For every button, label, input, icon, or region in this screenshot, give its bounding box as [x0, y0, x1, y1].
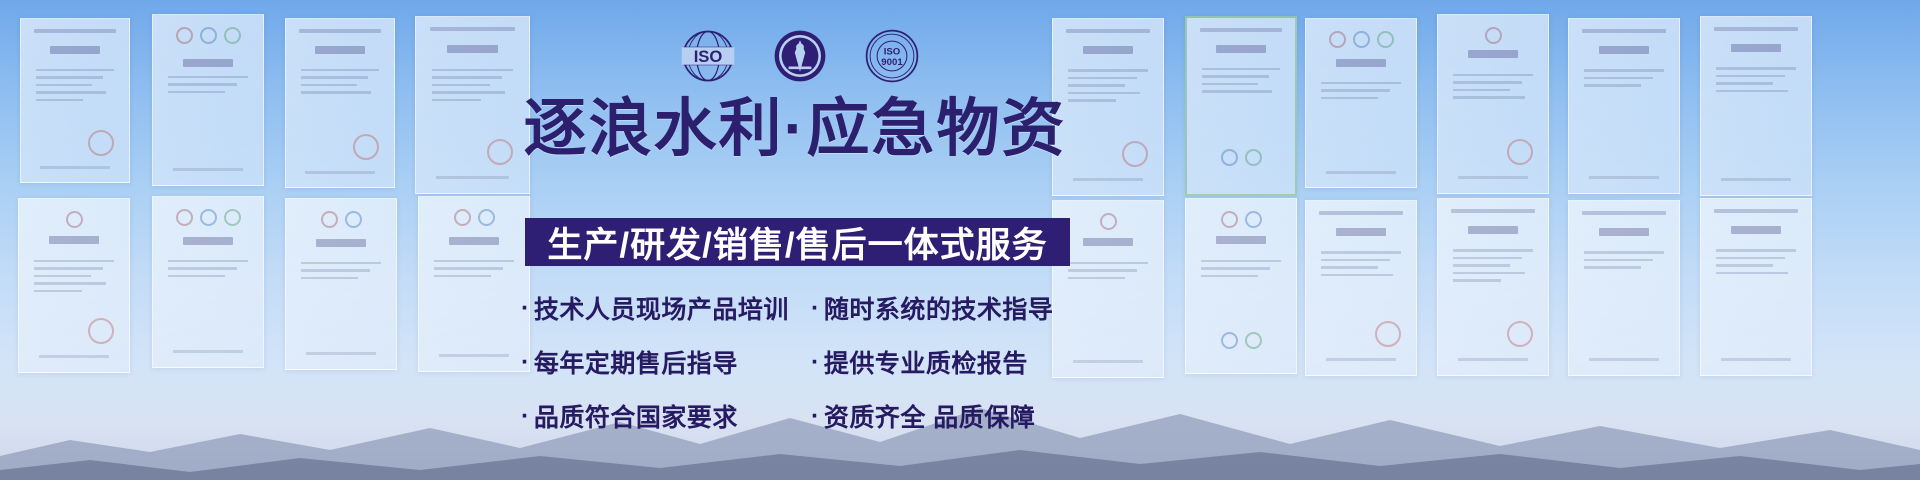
certificate-thumbnail: [1568, 18, 1680, 194]
bullet-icon: ·: [811, 350, 820, 375]
feature-item: · 资质齐全 品质保障: [811, 398, 1081, 434]
bullet-icon: ·: [521, 296, 530, 321]
certificate-thumbnail: [285, 198, 397, 370]
feature-row: · 每年定期售后指导 · 提供专业质检报告: [521, 344, 1081, 380]
feature-item: · 随时系统的技术指导: [811, 290, 1081, 326]
certificate-thumbnail: [1185, 198, 1297, 374]
certificate-thumbnail: [1305, 18, 1417, 188]
certificate-thumbnail: [285, 18, 395, 188]
banner-content: ISO ISO 9001 逐浪水利·应急物资 生产/研发/销售/售: [505, 0, 1085, 480]
banner-subtitle-bar: 生产/研发/销售/售后一体式服务: [525, 218, 1070, 266]
banner-headline: 逐浪水利·应急物资: [505, 98, 1085, 161]
iso-badge-label: ISO: [694, 47, 723, 66]
certificate-thumbnail: [20, 18, 130, 183]
svg-text:9001: 9001: [881, 57, 903, 68]
feature-label: 资质齐全 品质保障: [824, 398, 1035, 434]
feature-item: · 品质符合国家要求: [521, 398, 811, 434]
certificate-thumbnail: [18, 198, 130, 373]
feature-label: 技术人员现场产品培训: [534, 290, 789, 326]
certification-seal-badge: [772, 28, 828, 84]
certificate-thumbnail: [1700, 16, 1812, 196]
svg-text:ISO: ISO: [884, 46, 901, 57]
bullet-icon: ·: [521, 350, 530, 375]
bullet-icon: ·: [811, 296, 820, 321]
feature-item: · 提供专业质检报告: [811, 344, 1081, 380]
certificate-thumbnail: [1185, 16, 1297, 196]
certificate-thumbnail: [1700, 198, 1812, 376]
bullet-icon: ·: [811, 404, 820, 429]
certification-badges: ISO ISO 9001: [680, 28, 920, 84]
iso-globe-badge: ISO: [680, 28, 736, 84]
feature-list: · 技术人员现场产品培训 · 随时系统的技术指导 · 每年定期售后指导 · 提供…: [521, 290, 1081, 452]
promo-banner: ISO ISO 9001 逐浪水利·应急物资 生产/研发/销售/售: [0, 0, 1920, 480]
certificate-thumbnail: [152, 14, 264, 186]
certificate-thumbnail: [1437, 198, 1549, 376]
feature-label: 品质符合国家要求: [534, 398, 738, 434]
feature-item: · 技术人员现场产品培训: [521, 290, 811, 326]
feature-label: 每年定期售后指导: [534, 344, 738, 380]
bullet-icon: ·: [521, 404, 530, 429]
iso-9001-badge: ISO 9001: [864, 28, 920, 84]
certificate-thumbnail: [1437, 14, 1549, 194]
certificate-thumbnail: [152, 196, 264, 368]
feature-label: 随时系统的技术指导: [824, 290, 1054, 326]
banner-subtitle-text: 生产/研发/销售/售后一体式服务: [547, 217, 1047, 268]
feature-row: · 品质符合国家要求 · 资质齐全 品质保障: [521, 398, 1081, 434]
certificate-thumbnail: [1568, 200, 1680, 376]
feature-label: 提供专业质检报告: [824, 344, 1028, 380]
feature-item: · 每年定期售后指导: [521, 344, 811, 380]
certificate-thumbnail: [1305, 200, 1417, 376]
feature-row: · 技术人员现场产品培训 · 随时系统的技术指导: [521, 290, 1081, 326]
